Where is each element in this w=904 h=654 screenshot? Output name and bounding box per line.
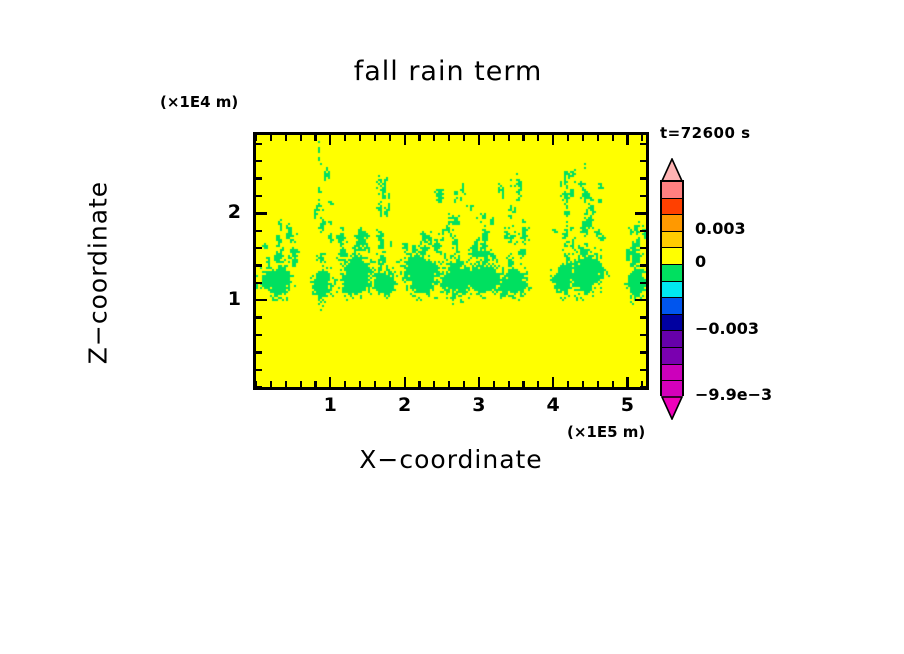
x-minor-tick-top [448, 135, 450, 141]
x-minor-tick [448, 381, 450, 387]
x-minor-tick-top [418, 135, 420, 141]
x-major-tick [552, 377, 554, 387]
x-minor-tick-top [389, 135, 391, 141]
x-minor-tick-top [374, 135, 376, 141]
x-major-tick-top [478, 135, 480, 145]
x-minor-tick [537, 381, 539, 387]
x-minor-tick [567, 381, 569, 387]
plot-title-text: fall rain term [354, 56, 543, 87]
x-major-tick-top [404, 135, 406, 145]
colorbar-tick-label: 0.003 [695, 219, 746, 238]
y-minor-tick-right [640, 247, 646, 249]
x-minor-tick-top [255, 135, 257, 141]
y-minor-tick [256, 230, 262, 232]
x-minor-tick [374, 381, 376, 387]
y-minor-tick [256, 177, 262, 179]
colorbar-segment [662, 365, 682, 382]
x-tick-label: 5 [607, 394, 647, 416]
colorbar-segment [662, 298, 682, 315]
colorbar-bottom-arrow-icon [660, 396, 684, 420]
x-major-tick [329, 377, 331, 387]
x-minor-tick-top [597, 135, 599, 141]
y-major-tick-right [635, 212, 646, 214]
colorbar-segments [660, 180, 684, 396]
y-minor-tick-right [640, 195, 646, 197]
x-minor-tick [463, 381, 465, 387]
contour-field-canvas [256, 135, 646, 387]
y-minor-tick [256, 369, 262, 371]
y-minor-tick [256, 316, 262, 318]
x-minor-tick [270, 381, 272, 387]
x-tick-label: 4 [533, 394, 573, 416]
x-major-tick-top [329, 135, 331, 145]
x-minor-tick-top [270, 135, 272, 141]
x-minor-tick-top [314, 135, 316, 141]
colorbar-segment [662, 282, 682, 299]
y-minor-tick-right [640, 264, 646, 266]
y-minor-tick [256, 143, 262, 145]
x-minor-tick [300, 381, 302, 387]
x-tick-label: 2 [385, 394, 425, 416]
x-tick-label: 1 [310, 394, 350, 416]
colorbar-segment [662, 348, 682, 365]
y-tick-label: 2 [211, 201, 241, 223]
colorbar-segment [662, 315, 682, 332]
colorbar-segment [662, 199, 682, 216]
x-minor-tick [433, 381, 435, 387]
colorbar-segment [662, 182, 682, 199]
x-minor-tick-top [359, 135, 361, 141]
x-minor-tick-top [300, 135, 302, 141]
x-minor-tick [285, 381, 287, 387]
colorbar-segment [662, 331, 682, 348]
x-minor-tick [359, 381, 361, 387]
colorbar-tick-label: −0.003 [695, 319, 759, 338]
y-tick-label: 1 [211, 288, 241, 310]
x-minor-tick [493, 381, 495, 387]
colorbar-tick-label: 0 [695, 252, 706, 271]
colorbar-top-arrow-icon [660, 158, 684, 182]
x-minor-tick [582, 381, 584, 387]
x-tick-label: 3 [459, 394, 499, 416]
y-minor-tick-right [640, 143, 646, 145]
x-major-tick [626, 377, 628, 387]
y-minor-tick-right [640, 160, 646, 162]
colorbar-segment [662, 215, 682, 232]
x-minor-tick [612, 381, 614, 387]
y-minor-tick [256, 334, 262, 336]
colorbar-segment [662, 265, 682, 282]
colorbar-tick-label: −9.9e−3 [695, 385, 772, 404]
y-minor-tick-right [640, 230, 646, 232]
x-major-tick [478, 377, 480, 387]
y-major-tick-right [635, 299, 646, 301]
x-axis-title: X−coordinate [253, 445, 649, 474]
x-major-tick-top [552, 135, 554, 145]
x-minor-tick [522, 381, 524, 387]
x-minor-tick-top [582, 135, 584, 141]
y-minor-tick [256, 282, 262, 284]
x-minor-tick [597, 381, 599, 387]
y-minor-tick [256, 160, 262, 162]
y-minor-tick [256, 386, 262, 388]
x-minor-tick-top [493, 135, 495, 141]
y-minor-tick-right [640, 334, 646, 336]
x-minor-tick-top [567, 135, 569, 141]
x-minor-tick [389, 381, 391, 387]
x-minor-tick-top [463, 135, 465, 141]
y-minor-tick [256, 351, 262, 353]
x-minor-tick [344, 381, 346, 387]
x-minor-tick-top [537, 135, 539, 141]
y-minor-tick-right [640, 282, 646, 284]
y-minor-tick [256, 264, 262, 266]
y-axis-unit-label: (×1E4 m) [160, 93, 238, 111]
x-minor-tick [508, 381, 510, 387]
colorbar-segment [662, 248, 682, 265]
x-minor-tick-top [641, 135, 643, 141]
y-major-tick [256, 212, 267, 214]
colorbar-segment [662, 232, 682, 249]
colorbar [655, 158, 691, 418]
y-axis-title: Z−coordinate [84, 123, 113, 423]
x-minor-tick-top [612, 135, 614, 141]
page-title: fall rain term [0, 56, 904, 87]
y-minor-tick-right [640, 351, 646, 353]
x-axis-unit-label: (×1E5 m) [567, 423, 645, 441]
plot-area [253, 132, 649, 390]
y-minor-tick-right [640, 369, 646, 371]
x-minor-tick [418, 381, 420, 387]
x-minor-tick-top [285, 135, 287, 141]
x-minor-tick-top [508, 135, 510, 141]
time-annotation: t=72600 s [660, 124, 751, 142]
x-minor-tick [314, 381, 316, 387]
x-minor-tick-top [522, 135, 524, 141]
y-minor-tick [256, 195, 262, 197]
y-minor-tick [256, 247, 262, 249]
x-minor-tick-top [344, 135, 346, 141]
y-minor-tick-right [640, 316, 646, 318]
y-major-tick [256, 299, 267, 301]
x-minor-tick-top [433, 135, 435, 141]
x-major-tick [404, 377, 406, 387]
y-minor-tick-right [640, 386, 646, 388]
y-minor-tick-right [640, 177, 646, 179]
x-major-tick-top [626, 135, 628, 145]
